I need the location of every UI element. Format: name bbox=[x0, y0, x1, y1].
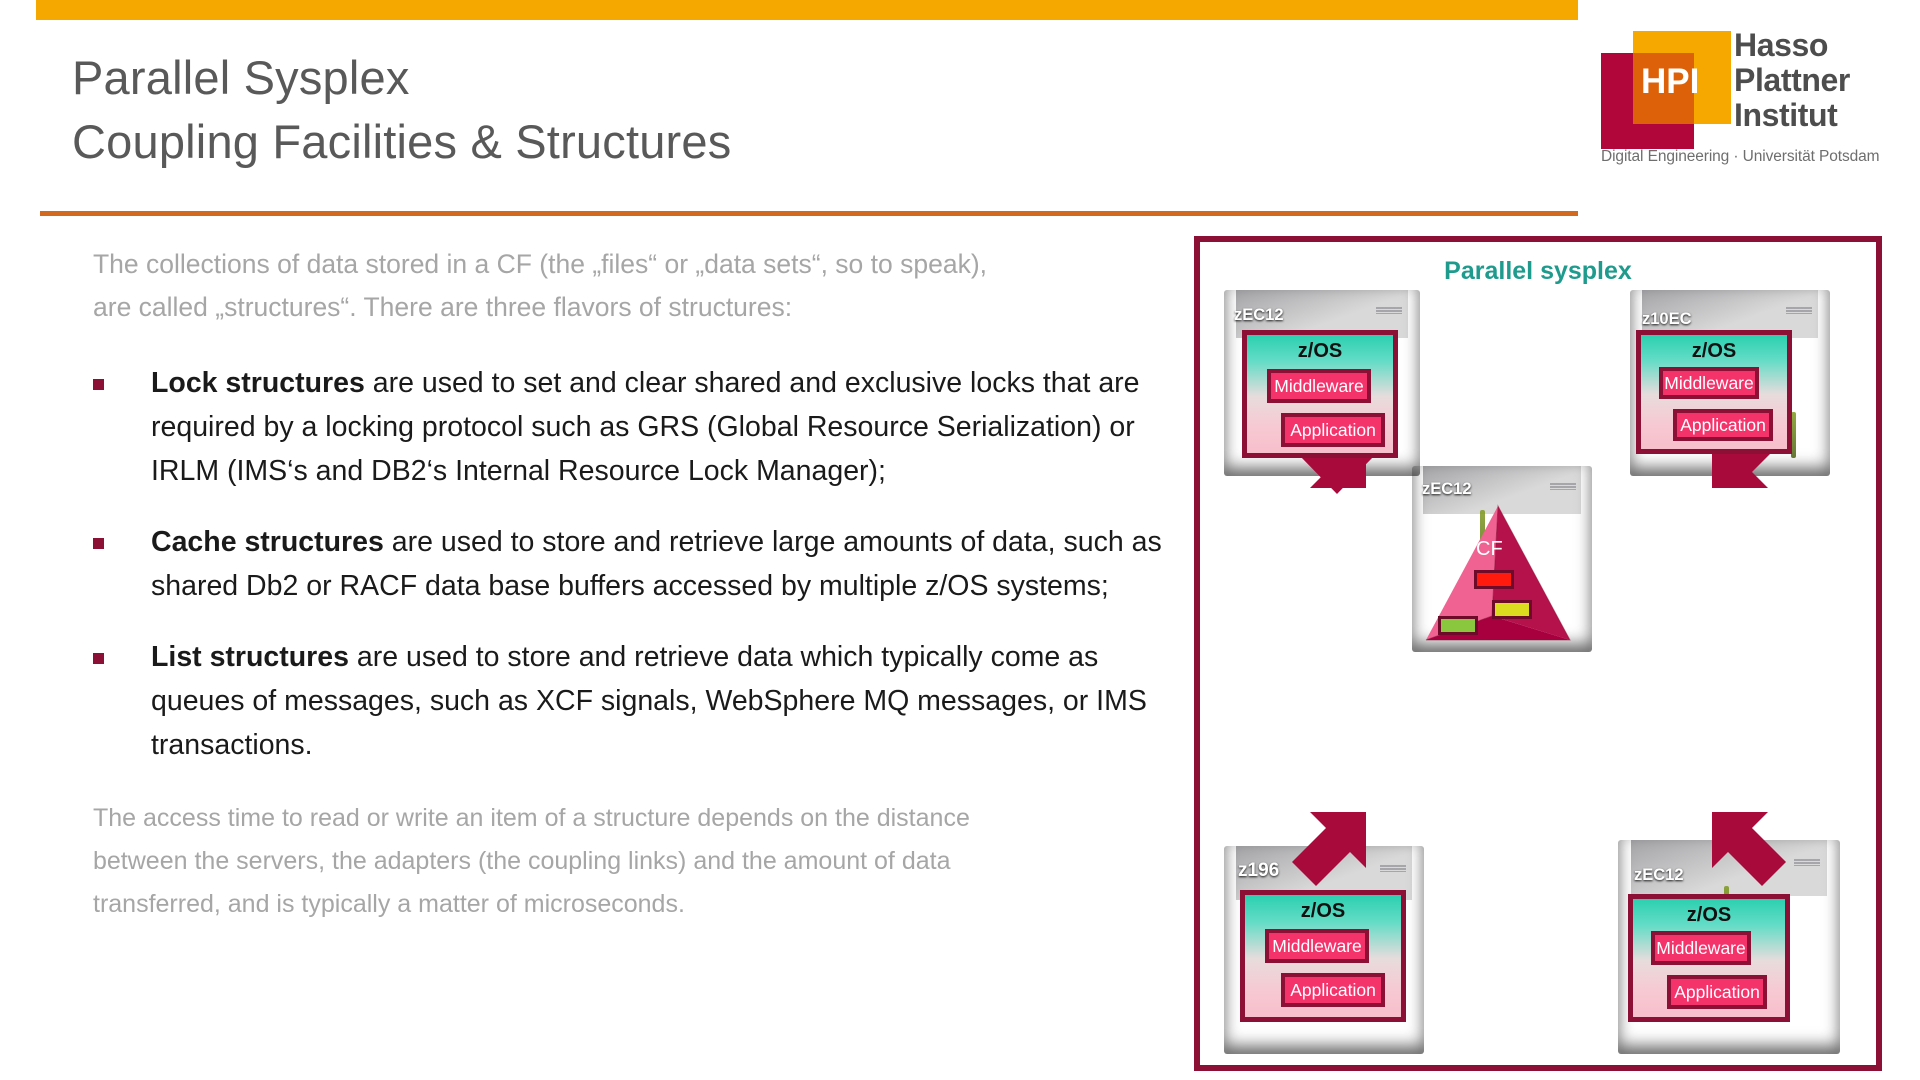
logo-subtitle: Digital Engineering · Universität Potsda… bbox=[1601, 148, 1879, 166]
zos-label: z/OS bbox=[1247, 335, 1393, 363]
middleware-box: Middleware bbox=[1265, 929, 1369, 963]
cf-pyramid: CF bbox=[1422, 504, 1574, 644]
top-accent-bar bbox=[36, 0, 1578, 20]
application-box: Application bbox=[1667, 975, 1767, 1009]
bullet-term: Lock structures bbox=[151, 367, 365, 399]
title-line-1: Parallel Sysplex bbox=[72, 46, 1172, 110]
bullet-marker-icon bbox=[93, 538, 104, 549]
server-model-label: zEC12 bbox=[1234, 306, 1284, 325]
page-title: Parallel Sysplex Coupling Facilities & S… bbox=[72, 46, 1172, 174]
cache-structure-block bbox=[1492, 600, 1532, 619]
hpi-logo-mark: HPI bbox=[1601, 31, 1721, 149]
structures-bullet-list: Lock structures are used to set and clea… bbox=[93, 361, 1173, 767]
zos-label: z/OS bbox=[1245, 895, 1401, 923]
zos-panel: z/OS Middleware Application bbox=[1628, 894, 1790, 1022]
logo-word-plattner: Plattner bbox=[1734, 63, 1850, 98]
list-item: Cache structures are used to store and r… bbox=[93, 520, 1163, 608]
middleware-box: Middleware bbox=[1651, 931, 1751, 965]
bullet-marker-icon bbox=[93, 653, 104, 664]
bullet-marker-icon bbox=[93, 379, 104, 390]
title-line-2: Coupling Facilities & Structures bbox=[72, 110, 1172, 174]
outro-paragraph: The access time to read or write an item… bbox=[93, 797, 1033, 926]
middleware-box: Middleware bbox=[1659, 367, 1759, 399]
zos-panel: z/OS Middleware Application bbox=[1240, 890, 1406, 1022]
middleware-box: Middleware bbox=[1267, 369, 1371, 403]
server-model-label: zEC12 bbox=[1634, 866, 1684, 885]
bullet-term: Cache structures bbox=[151, 526, 384, 558]
hpi-logo: HPI Hasso Plattner Institut Digital Engi… bbox=[1601, 18, 1901, 164]
zos-panel: z/OS Middleware Application bbox=[1242, 330, 1398, 458]
slide: Parallel Sysplex Coupling Facilities & S… bbox=[0, 0, 1920, 1080]
logo-wordmark: Hasso Plattner Institut bbox=[1734, 28, 1850, 133]
cf-label: CF bbox=[1476, 538, 1503, 561]
logo-hpi-text: HPI bbox=[1641, 63, 1731, 101]
lead-paragraph: The collections of data stored in a CF (… bbox=[93, 243, 1013, 329]
content-column: The collections of data stored in a CF (… bbox=[93, 243, 1173, 926]
zos-label: z/OS bbox=[1641, 335, 1787, 363]
application-box: Application bbox=[1673, 409, 1773, 441]
list-item: Lock structures are used to set and clea… bbox=[93, 361, 1163, 493]
title-divider bbox=[40, 211, 1578, 216]
zos-panel: z/OS Middleware Application bbox=[1636, 330, 1792, 454]
parallel-sysplex-diagram: Parallel sysplex bbox=[1194, 236, 1882, 1071]
list-structure-block bbox=[1438, 616, 1478, 635]
bullet-term: List structures bbox=[151, 641, 349, 673]
logo-word-hasso: Hasso bbox=[1734, 28, 1850, 63]
arrow-bottomleft-to-cf bbox=[1292, 794, 1388, 886]
arrow-bottomright-to-cf bbox=[1690, 794, 1786, 886]
application-box: Application bbox=[1281, 973, 1385, 1007]
zos-label: z/OS bbox=[1633, 899, 1785, 927]
logo-word-institut: Institut bbox=[1734, 98, 1850, 133]
server-model-label: z10EC bbox=[1642, 310, 1692, 329]
list-item: List structures are used to store and re… bbox=[93, 635, 1163, 767]
application-box: Application bbox=[1281, 413, 1385, 447]
server-model-label: zEC12 bbox=[1422, 480, 1472, 499]
lock-structure-block bbox=[1474, 570, 1514, 589]
server-model-label: z196 bbox=[1238, 860, 1279, 882]
